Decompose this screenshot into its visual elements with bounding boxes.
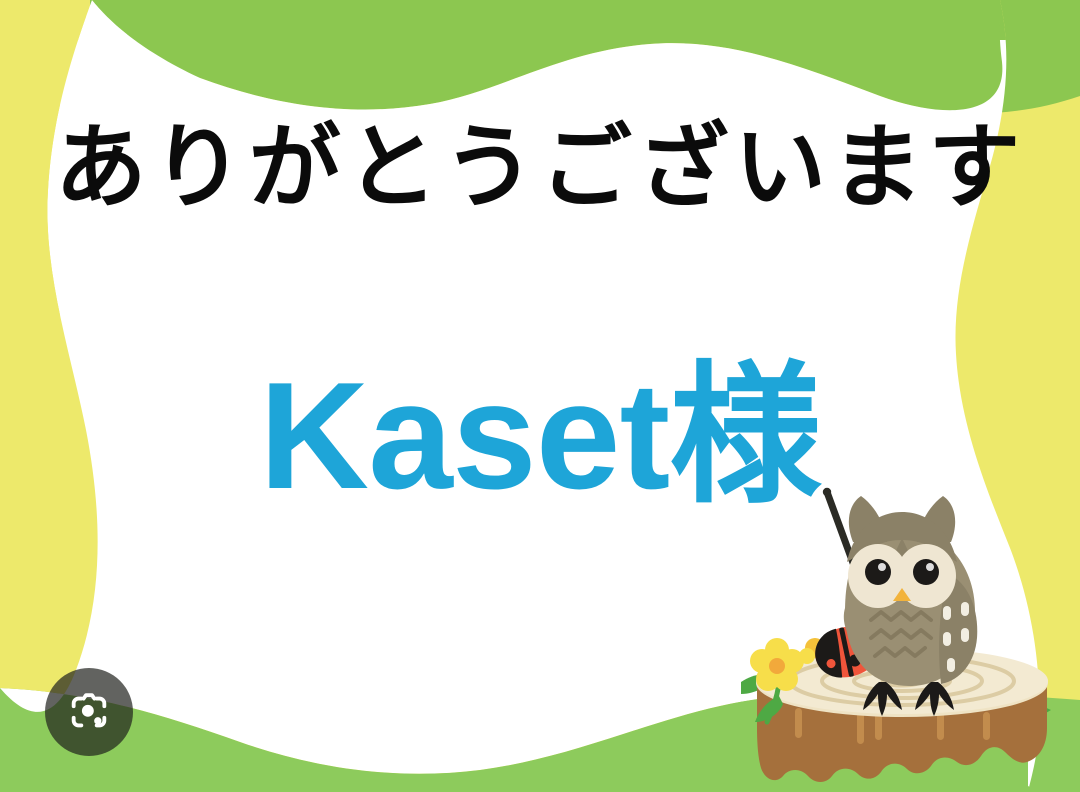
thank-you-text: ありがとうございます	[0, 122, 1080, 214]
google-lens-button[interactable]	[45, 668, 133, 756]
google-lens-icon	[66, 689, 112, 735]
image-canvas: ありがとうございます Kaset様	[0, 0, 1080, 792]
owl-illustration	[735, 470, 1080, 792]
